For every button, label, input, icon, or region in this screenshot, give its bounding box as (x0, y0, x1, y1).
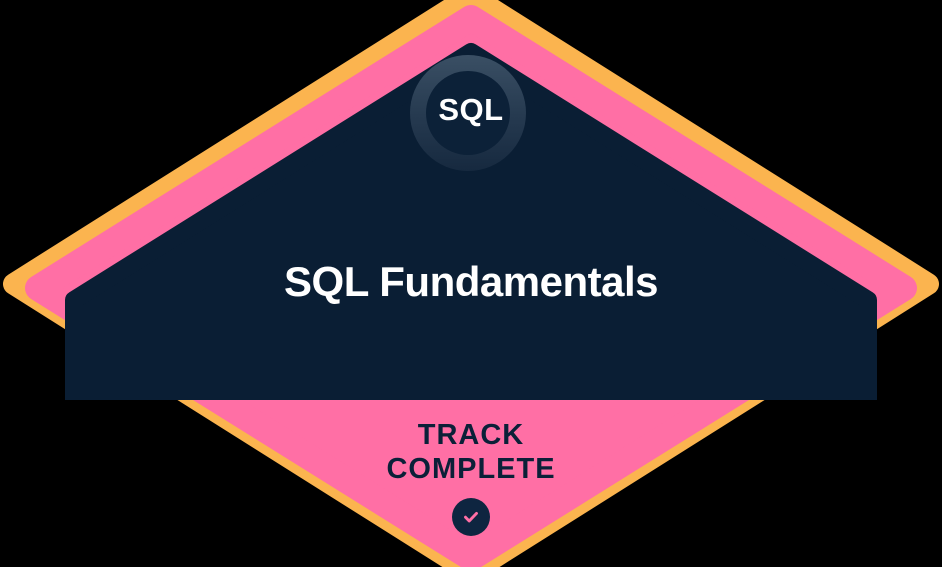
sql-chip-inner (426, 71, 510, 155)
badge-canvas: SQL SQL Fundamentals TRACK COMPLETE (0, 0, 942, 567)
achievement-badge-graphic (0, 0, 942, 567)
